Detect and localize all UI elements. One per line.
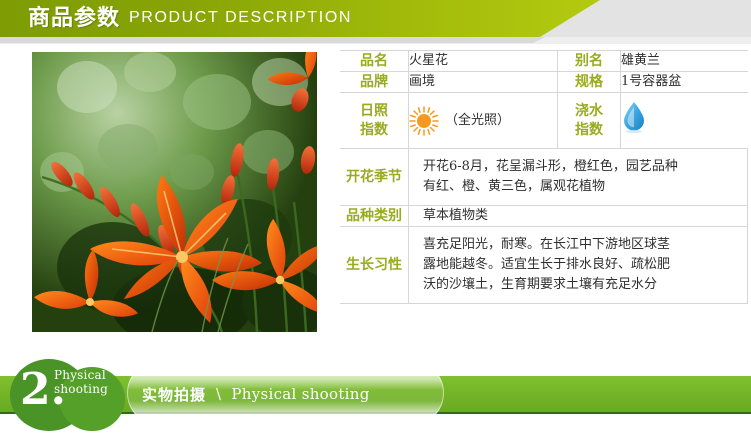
spec-value-bloom-season-line1: 开花6-8月，花呈漏斗形，橙红色，园艺品种: [423, 157, 747, 177]
spec-label-growth-habit: 生长习性: [340, 227, 409, 304]
spec-value-growth-habit-line2: 露地能越冬。适宜生长于排水良好、疏松肥: [423, 255, 747, 275]
water-drop-icon: [621, 122, 647, 137]
spec-label-variety-type: 品种类别: [340, 206, 409, 227]
product-description-page: 商品参数 PRODUCT DESCRIPTION: [0, 0, 751, 435]
spec-value-pinpai: 画境: [409, 72, 558, 93]
spec-label-water-index-line2: 指数: [558, 121, 620, 140]
section-number-badge: 2. Physical shooting: [2, 356, 127, 435]
sun-icon: [409, 106, 439, 136]
bottom-bar-title-cn: 实物拍摄: [142, 384, 206, 405]
page-title-en: PRODUCT DESCRIPTION: [129, 10, 352, 27]
product-photo: [32, 52, 317, 332]
spec-label-guige: 规格: [558, 72, 621, 93]
spec-value-bieming: 雄黄兰: [621, 51, 748, 72]
spec-label-water-index-line1: 浇水: [558, 102, 620, 121]
spec-label-sun-index-line2: 指数: [340, 121, 408, 140]
spec-value-bloom-season: 开花6-8月，花呈漏斗形，橙红色，园艺品种 有红、橙、黄三色，属观花植物: [409, 149, 748, 206]
table-row: 开花季节 开花6-8月，花呈漏斗形，橙红色，园艺品种 有红、橙、黄三色，属观花植…: [340, 149, 748, 206]
table-row: 品种类别 草本植物类: [340, 206, 748, 227]
spec-label-pinpai: 品牌: [340, 72, 409, 93]
spec-label-bieming: 别名: [558, 51, 621, 72]
spec-value-growth-habit: 喜充足阳光，耐寒。在长江中下游地区球茎 露地能越冬。适宜生长于排水良好、疏松肥 …: [409, 227, 748, 304]
spec-value-guige: 1号容器盆: [621, 72, 748, 93]
table-row: 生长习性 喜充足阳光，耐寒。在长江中下游地区球茎 露地能越冬。适宜生长于排水良好…: [340, 227, 748, 304]
spec-label-sun-index-line1: 日照: [340, 102, 408, 121]
spec-value-variety-type-line1: 草本植物类: [423, 206, 747, 226]
spec-value-bloom-season-line2: 有红、橙、黄三色，属观花植物: [423, 177, 747, 197]
table-row: 日照 指数: [340, 93, 748, 149]
spec-value-variety-type: 草本植物类: [409, 206, 748, 227]
bottom-bar-title-group: 实物拍摄 \ Physical shooting: [127, 376, 370, 412]
spec-value-sun-index: （全光照）: [409, 93, 558, 149]
header-green-shadow: [0, 37, 560, 43]
table-row: 品牌 画境 规格 1号容器盆: [340, 72, 748, 93]
section-physical-shooting-banner: 实物拍摄 \ Physical shooting 2. Physical sho…: [0, 356, 751, 435]
badge-label-line1: Physical: [54, 368, 132, 382]
badge-label-line2: shooting: [54, 382, 132, 396]
badge-label: Physical shooting: [54, 368, 132, 396]
product-photo-image: [32, 52, 317, 332]
spec-label-water-index: 浇水 指数: [558, 93, 621, 149]
spec-value-growth-habit-line1: 喜充足阳光，耐寒。在长江中下游地区球茎: [423, 235, 747, 255]
header-title-group: 商品参数 PRODUCT DESCRIPTION: [28, 0, 352, 37]
spec-label-sun-index: 日照 指数: [340, 93, 409, 149]
page-title-cn: 商品参数: [28, 8, 120, 30]
spec-value-growth-habit-line3: 沃的沙壤土，生育期要求土壤有充足水分: [423, 275, 747, 295]
bottom-bar-separator: \: [216, 385, 221, 403]
spec-label-bloom-season: 开花季节: [340, 149, 409, 206]
spec-value-water-index: [621, 93, 748, 149]
product-spec-table: 品名 火星花 别名 雄黄兰 品牌 画境 规格 1号容器盆 日照 指数: [340, 50, 748, 304]
spec-value-sun-index-text: （全光照）: [445, 111, 510, 131]
spec-value-pinming: 火星花: [409, 51, 558, 72]
section-header-banner: 商品参数 PRODUCT DESCRIPTION: [0, 0, 751, 44]
bottom-bar-title-en: Physical shooting: [231, 385, 369, 403]
spec-label-pinming: 品名: [340, 51, 409, 72]
table-row: 品名 火星花 别名 雄黄兰: [340, 51, 748, 72]
